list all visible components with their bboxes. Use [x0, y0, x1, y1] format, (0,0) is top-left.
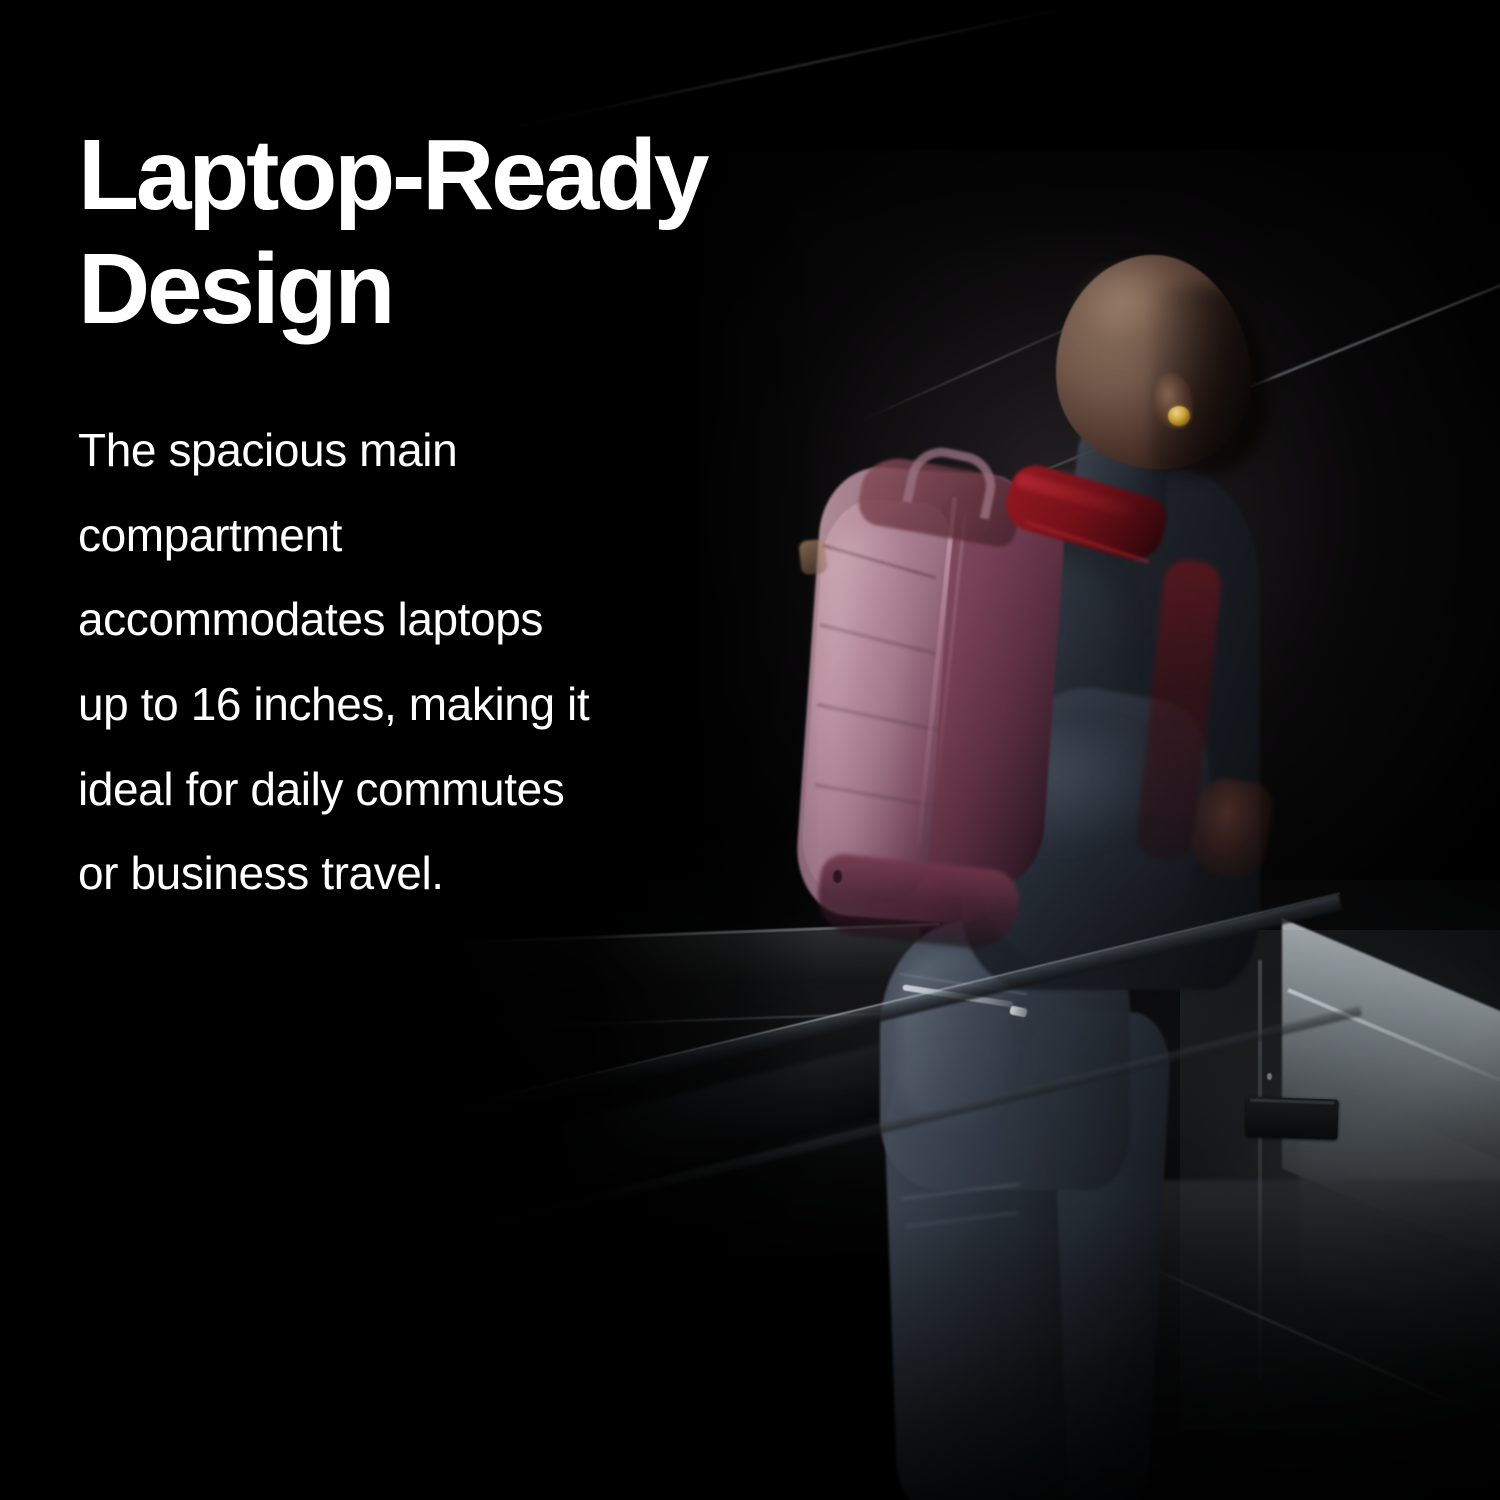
page-title: Laptop-Ready Design [78, 118, 798, 346]
marketing-copy-block: Laptop-Ready Design The spacious main co… [78, 118, 798, 916]
backpack-sheen [826, 530, 904, 860]
backpack-grommet [833, 870, 842, 883]
hand [1189, 775, 1276, 880]
product-lifestyle-banner: Laptop-Ready Design The spacious main co… [0, 0, 1500, 1500]
body-description: The spacious main compartment accommodat… [78, 346, 798, 916]
gold-earring-icon [1168, 406, 1190, 426]
backpack-side-tab [798, 539, 827, 576]
